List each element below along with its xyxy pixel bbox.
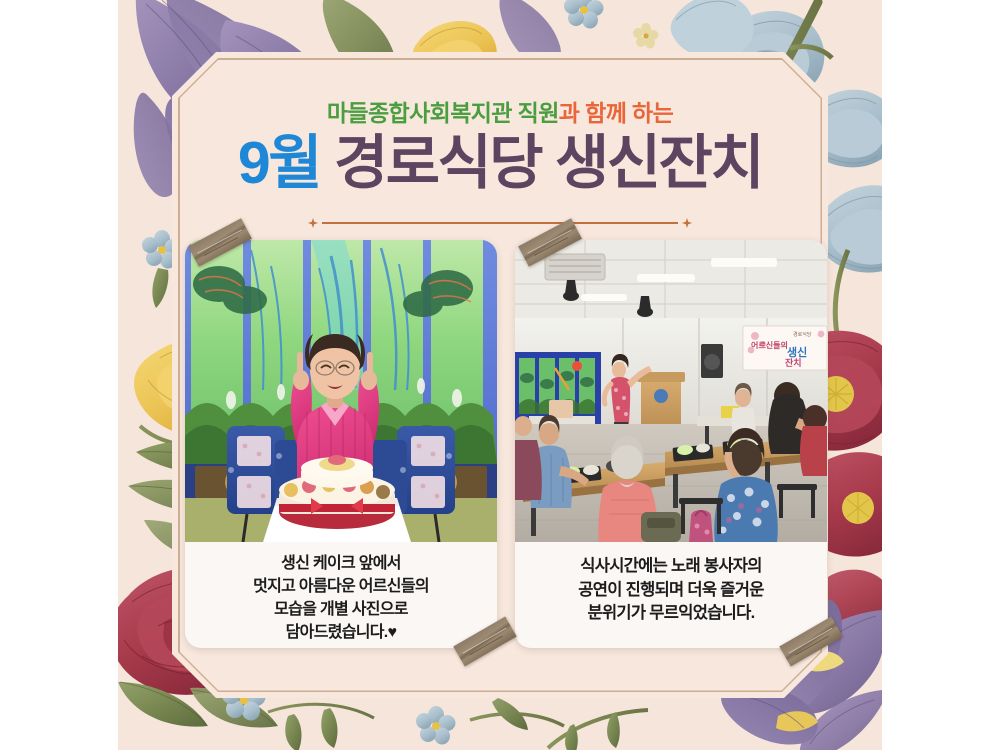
svg-text:어르신들의: 어르신들의 — [751, 340, 788, 350]
ornamental-divider — [308, 216, 692, 230]
title-month: 9월 — [238, 130, 320, 196]
page-title: 9월경로식당 생신잔치 — [118, 133, 882, 195]
title-event: 경로식당 생신잔치 — [334, 130, 762, 196]
photo-card-right: 어르신들의 생신 잔치 경로식당 — [515, 240, 827, 648]
divider-rule — [322, 222, 678, 224]
poster-subtitle: 마들종합사회복지관 직원과 함께 하는 — [118, 94, 882, 128]
caption-left: 생신 케이크 앞에서 멋지고 아름다운 어르신들의 모습을 개별 사진으로 담아… — [185, 542, 497, 645]
photo-birthday-cake — [185, 240, 497, 542]
svg-text:잔치: 잔치 — [785, 357, 802, 368]
svg-text:경로식당: 경로식당 — [793, 331, 812, 338]
photo-card-left: 생신 케이크 앞에서 멋지고 아름다운 어르신들의 모습을 개별 사진으로 담아… — [185, 240, 497, 648]
svg-text:생신: 생신 — [787, 345, 807, 359]
poster-card: 마들종합사회복지관 직원과 함께 하는 9월경로식당 생신잔치 — [118, 0, 882, 750]
subtitle-organization: 마들종합사회복지관 직원 — [327, 100, 559, 126]
photo-dining-hall: 어르신들의 생신 잔치 경로식당 — [515, 240, 827, 542]
diamond-ornament-left-icon — [308, 218, 318, 228]
poster-stage: 마들종합사회복지관 직원과 함께 하는 9월경로식당 생신잔치 — [0, 0, 1000, 750]
caption-right: 식사시간에는 노래 봉사자의 공연이 진행되며 더욱 즐거운 분위기가 무르익었… — [515, 542, 827, 626]
diamond-ornament-right-icon — [682, 218, 692, 228]
subtitle-suffix: 과 함께 하는 — [559, 100, 673, 126]
